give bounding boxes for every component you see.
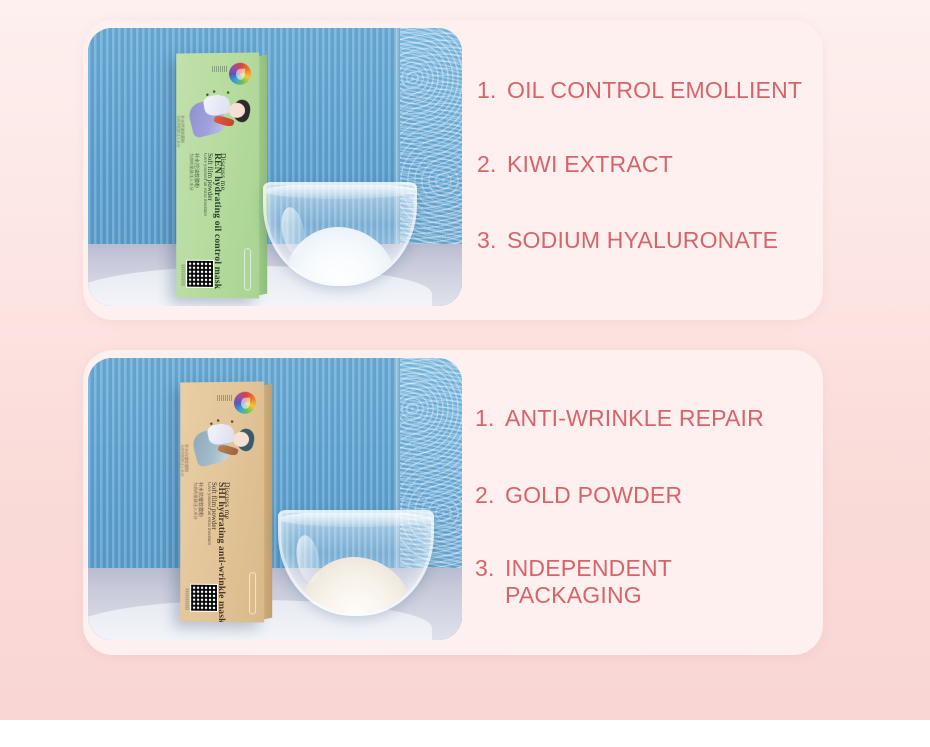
feature-list-item: 2. KIWI EXTRACT <box>477 151 673 178</box>
box-subtitle-text: Soft film powder <box>210 482 218 530</box>
head-shape <box>233 432 249 447</box>
feature-number: 2. <box>477 151 507 178</box>
box-tear-strip <box>244 248 251 290</box>
hanfu-illustration-icon <box>192 422 254 478</box>
head-shape <box>229 103 245 118</box>
product-photo-green-mask: Discuss me REN hydrating oil control mas… <box>88 28 462 306</box>
glass-bowl <box>263 182 417 286</box>
qr-code-icon <box>190 584 218 612</box>
box-cn-primary-text: 补水抗皱软膜粉 <box>197 482 204 517</box>
box-cn-secondary-text: 为你的肌肤注入水分 <box>192 482 198 520</box>
product-box-tan: Discuss me SHI hydrating anti-wrinkle ma… <box>180 381 264 622</box>
product-photo-tan-mask: Discuss me SHI hydrating anti-wrinkle ma… <box>88 358 462 640</box>
qr-caption-icon <box>185 588 189 610</box>
feature-label: GOLD POWDER <box>505 482 682 509</box>
box-tagline-text: Give yourself an extra moisture <box>206 482 211 545</box>
feature-label: ANTI-WRINKLE REPAIR <box>505 405 764 432</box>
table-surface <box>88 244 462 306</box>
feature-card-green-mask: Discuss me REN hydrating oil control mas… <box>83 20 823 320</box>
feature-list-item: 3. INDEPENDENT PACKAGING <box>475 555 700 609</box>
box-front-panel: Discuss me REN hydrating oil control mas… <box>176 52 259 298</box>
bowl-rim <box>279 511 433 527</box>
box-cn-side-text-b: 为你的肌肤注入水分 <box>176 115 180 147</box>
box-cn-secondary-text: 为你的肌肤注入水分 <box>188 153 194 191</box>
bowl-rim <box>264 183 416 199</box>
box-cn-primary-text: 补水控油软膜粉 <box>193 153 200 188</box>
feature-number: 1. <box>477 77 507 104</box>
feature-label: OIL CONTROL EMOLLIENT <box>507 77 802 104</box>
qr-code-icon <box>186 260 214 288</box>
box-cn-side-text-b: 为你的肌肤注入水分 <box>180 444 184 476</box>
hanfu-illustration-icon <box>188 93 250 149</box>
feature-list-tan-mask: 1. ANTI-WRINKLE REPAIR 2. GOLD POWDER 3.… <box>475 350 805 655</box>
rainbow-shell-logo-icon <box>234 392 256 414</box>
logo-caption-icon <box>217 395 233 401</box>
qr-caption-icon <box>181 264 185 286</box>
feature-number: 3. <box>475 555 505 582</box>
box-front-panel: Discuss me SHI hydrating anti-wrinkle ma… <box>180 381 264 622</box>
product-box-green: Discuss me REN hydrating oil control mas… <box>176 52 259 298</box>
feature-number: 3. <box>477 227 507 254</box>
feature-list-item: 3. SODIUM HYALURONATE <box>477 227 778 254</box>
glass-bowl <box>278 510 434 616</box>
rainbow-shell-logo-icon <box>229 63 251 85</box>
feature-number: 2. <box>475 482 505 509</box>
product-feature-page: Discuss me REN hydrating oil control mas… <box>0 0 930 720</box>
feature-list-item: 1. ANTI-WRINKLE REPAIR <box>475 405 764 432</box>
feature-card-tan-mask: Discuss me SHI hydrating anti-wrinkle ma… <box>83 350 823 655</box>
box-tear-strip <box>249 572 256 614</box>
feature-list-item: 1. OIL CONTROL EMOLLIENT <box>477 77 802 104</box>
box-tagline-text: Give yourself an extra moisture <box>202 153 207 216</box>
box-side-panel <box>258 54 267 295</box>
logo-caption-icon <box>212 66 228 72</box>
box-side-panel <box>263 383 272 619</box>
feature-label: SODIUM HYALURONATE <box>507 227 778 254</box>
feature-label: INDEPENDENT PACKAGING <box>505 555 700 609</box>
feature-list-green-mask: 1. OIL CONTROL EMOLLIENT 2. KIWI EXTRACT… <box>477 20 805 320</box>
feature-list-item: 2. GOLD POWDER <box>475 482 682 509</box>
box-subtitle-text: Soft film powder <box>206 153 214 201</box>
feature-label: KIWI EXTRACT <box>507 151 673 178</box>
feature-number: 1. <box>475 405 505 432</box>
